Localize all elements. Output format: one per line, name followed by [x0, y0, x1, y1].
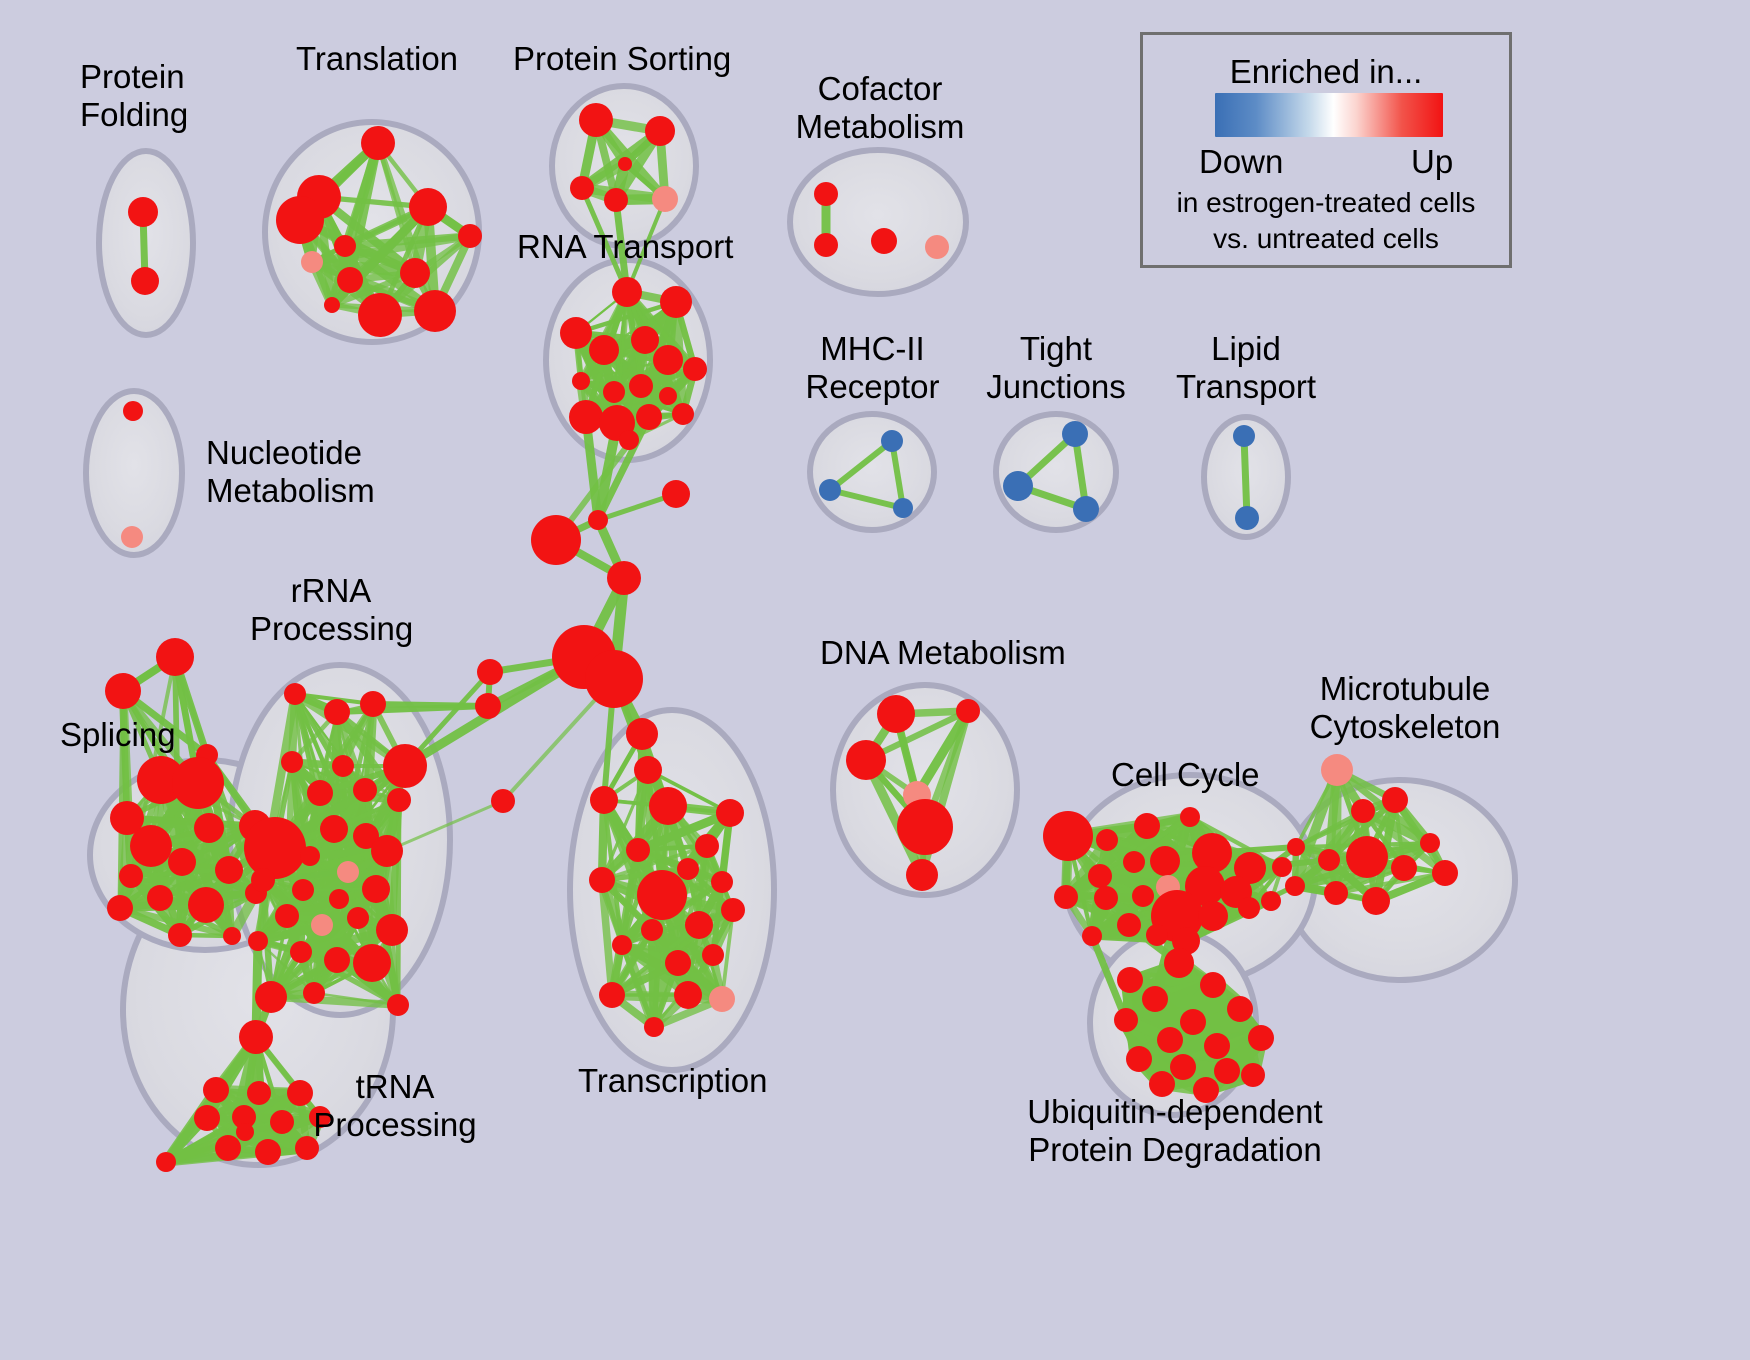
- enrichment-map-figure: Protein Folding Translation Protein Sort…: [0, 0, 1750, 1360]
- gene-set-node: [603, 381, 625, 403]
- gene-set-node: [128, 197, 158, 227]
- gene-set-node: [1164, 948, 1194, 978]
- gene-set-node: [897, 799, 953, 855]
- gene-set-node: [652, 186, 678, 212]
- gene-set-node: [1192, 833, 1232, 873]
- gene-set-node: [119, 864, 143, 888]
- network-edge: [373, 704, 488, 706]
- gene-set-node: [665, 950, 691, 976]
- gene-set-node: [1117, 913, 1141, 937]
- gene-set-node: [1180, 1009, 1206, 1035]
- gene-set-node: [215, 856, 243, 884]
- gene-set-node: [255, 981, 287, 1013]
- gene-set-node: [147, 885, 173, 911]
- gene-set-node: [194, 813, 224, 843]
- gene-set-node: [475, 693, 501, 719]
- gene-set-node: [320, 815, 348, 843]
- cluster-label-ubiquitin-protein-degradation: Ubiquitin-dependent Protein Degradation: [1000, 1093, 1350, 1169]
- network-edge: [398, 800, 399, 1005]
- gene-set-node: [300, 846, 320, 866]
- gene-set-node: [387, 788, 411, 812]
- cluster-label-transcription: Transcription: [578, 1062, 768, 1100]
- gene-set-node: [637, 870, 687, 920]
- gene-set-node: [599, 982, 625, 1008]
- cluster-label-rna-transport: RNA Transport: [517, 228, 733, 266]
- gene-set-node: [1073, 496, 1099, 522]
- gene-set-node: [194, 1105, 220, 1131]
- gene-set-node: [1227, 996, 1253, 1022]
- gene-set-node: [409, 188, 447, 226]
- gene-set-node: [284, 683, 306, 705]
- gene-set-node: [371, 835, 403, 867]
- gene-set-node: [1117, 967, 1143, 993]
- gene-set-node: [1248, 1025, 1274, 1051]
- gene-set-node: [814, 182, 838, 206]
- legend-high-label: Up: [1411, 143, 1453, 181]
- gene-set-node: [1200, 972, 1226, 998]
- gene-set-node: [683, 357, 707, 381]
- gene-set-node: [1132, 885, 1154, 907]
- gene-set-node: [387, 994, 409, 1016]
- gene-set-node: [1170, 1054, 1196, 1080]
- gene-set-node: [105, 673, 141, 709]
- gene-set-node: [1391, 855, 1417, 881]
- gene-set-node: [400, 258, 430, 288]
- gene-set-node: [626, 718, 658, 750]
- gene-set-node: [846, 740, 886, 780]
- gene-set-node: [662, 480, 690, 508]
- gene-set-node: [877, 695, 915, 733]
- gene-set-node: [956, 699, 980, 723]
- gene-set-node: [1241, 1063, 1265, 1087]
- gene-set-node: [660, 286, 692, 318]
- gene-set-node: [247, 1081, 271, 1105]
- gene-set-node: [281, 751, 303, 773]
- gene-set-node: [645, 116, 675, 146]
- cluster-label-cell-cycle: Cell Cycle: [1111, 756, 1260, 794]
- cluster-label-mhc-ii-receptor: MHC-II Receptor: [790, 330, 955, 406]
- gene-set-node: [215, 1135, 241, 1161]
- gene-set-node: [414, 290, 456, 332]
- cluster-label-protein-folding: Protein Folding: [80, 58, 188, 134]
- gene-set-node: [702, 944, 724, 966]
- gene-set-node: [360, 691, 386, 717]
- gene-set-node: [588, 510, 608, 530]
- gene-set-node: [491, 789, 515, 813]
- gene-set-node: [585, 650, 643, 708]
- gene-set-node: [1096, 829, 1118, 851]
- gene-set-node: [311, 914, 333, 936]
- gene-set-node: [353, 778, 377, 802]
- gene-set-node: [819, 479, 841, 501]
- gene-set-node: [590, 786, 618, 814]
- gene-set-node: [641, 919, 663, 941]
- gene-set-node: [353, 944, 391, 982]
- gene-set-node: [255, 1139, 281, 1165]
- gene-set-node: [570, 176, 594, 200]
- gene-set-node: [1233, 425, 1255, 447]
- gene-set-node: [560, 317, 592, 349]
- gene-set-node: [649, 787, 687, 825]
- gene-set-node: [636, 404, 662, 430]
- cluster-label-rrna-processing: rRNA Processing: [250, 572, 412, 648]
- gene-set-node: [607, 561, 641, 595]
- gene-set-node: [1150, 846, 1180, 876]
- gene-set-node: [604, 188, 628, 212]
- gene-set-node: [324, 297, 340, 313]
- gene-set-node: [156, 1152, 176, 1172]
- gene-set-node: [107, 895, 133, 921]
- gene-set-node: [1214, 1058, 1240, 1084]
- gene-set-node: [1272, 857, 1292, 877]
- gene-set-node: [324, 699, 350, 725]
- gene-set-node: [301, 251, 323, 273]
- gene-set-node: [248, 931, 268, 951]
- gene-set-node: [626, 838, 650, 862]
- gene-set-node: [358, 293, 402, 337]
- gene-set-node: [893, 498, 913, 518]
- gene-set-node: [172, 757, 224, 809]
- gene-set-node: [332, 755, 354, 777]
- gene-set-node: [188, 887, 224, 923]
- gene-set-node: [347, 907, 369, 929]
- gene-set-node: [629, 374, 653, 398]
- gene-set-node: [168, 923, 192, 947]
- gene-set-node: [1003, 471, 1033, 501]
- gene-set-node: [612, 935, 632, 955]
- gene-set-node: [239, 1020, 273, 1054]
- cluster-label-translation: Translation: [296, 40, 458, 78]
- gene-set-node: [1054, 885, 1078, 909]
- gene-set-node: [619, 430, 639, 450]
- gene-set-node: [1088, 864, 1112, 888]
- gene-set-node: [677, 858, 699, 880]
- gene-set-node: [334, 235, 356, 257]
- gene-set-node: [324, 947, 350, 973]
- cluster-label-lipid-transport: Lipid Transport: [1160, 330, 1332, 406]
- cluster-label-nucleotide-metabolism: Nucleotide Metabolism: [206, 434, 375, 510]
- gene-set-node: [871, 228, 897, 254]
- gene-set-node: [329, 889, 349, 909]
- gene-set-node: [290, 941, 312, 963]
- gene-set-node: [925, 235, 949, 259]
- gene-set-node: [579, 103, 613, 137]
- gene-set-node: [270, 1110, 294, 1134]
- cluster-label-tight-junctions: Tight Junctions: [975, 330, 1137, 406]
- gene-set-node: [123, 401, 143, 421]
- gene-set-node: [1432, 860, 1458, 886]
- gene-set-node: [531, 515, 581, 565]
- gene-set-node: [477, 659, 503, 685]
- gene-set-node: [244, 817, 306, 879]
- gene-set-node: [303, 982, 325, 1004]
- gene-set-node: [1420, 833, 1440, 853]
- network-edge: [1244, 436, 1247, 518]
- gene-set-node: [383, 744, 427, 788]
- gene-set-node: [203, 1077, 229, 1103]
- gene-set-node: [1204, 1033, 1230, 1059]
- gene-set-node: [1287, 838, 1305, 856]
- gene-set-node: [589, 867, 615, 893]
- cluster-label-dna-metabolism: DNA Metabolism: [820, 634, 1066, 672]
- gene-set-node: [131, 267, 159, 295]
- gene-set-node: [337, 861, 359, 883]
- gene-set-node: [589, 335, 619, 365]
- legend-subtitle: in estrogen-treated cells vs. untreated …: [1143, 185, 1509, 257]
- gene-set-node: [1235, 506, 1259, 530]
- gene-set-node: [236, 1123, 254, 1141]
- gene-set-node: [618, 157, 632, 171]
- gene-set-node: [1382, 787, 1408, 813]
- gene-set-node: [1321, 754, 1353, 786]
- gene-set-node: [1324, 881, 1348, 905]
- cluster-label-trna-processing: tRNA Processing: [300, 1068, 490, 1144]
- gene-set-node: [1082, 926, 1102, 946]
- gene-set-node: [1346, 836, 1388, 878]
- legend-title: Enriched in...: [1143, 53, 1509, 91]
- gene-set-node: [634, 756, 662, 784]
- cluster-label-microtubule-cytoskeleton: Microtubule Cytoskeleton: [1290, 670, 1520, 746]
- gene-set-node: [376, 914, 408, 946]
- gene-set-node: [251, 868, 275, 892]
- cluster-label-cofactor-metabolism: Cofactor Metabolism: [790, 70, 970, 146]
- gene-set-node: [695, 834, 719, 858]
- gene-set-node: [1180, 807, 1200, 827]
- gene-set-node: [572, 372, 590, 390]
- gene-set-node: [709, 986, 735, 1012]
- gene-set-node: [337, 267, 363, 293]
- cluster-hull-mhc-ii-receptor: [810, 414, 934, 530]
- gene-set-node: [292, 879, 314, 901]
- legend-box: Enriched in... Down Up in estrogen-treat…: [1140, 32, 1512, 268]
- gene-set-node: [1142, 986, 1168, 1012]
- gene-set-node: [716, 799, 744, 827]
- gene-set-node: [1198, 901, 1228, 931]
- gene-set-node: [362, 875, 390, 903]
- legend-color-gradient: [1215, 93, 1443, 137]
- cluster-hull-cofactor-metabolism: [790, 150, 966, 294]
- gene-set-node: [672, 403, 694, 425]
- gene-set-node: [1043, 811, 1093, 861]
- gene-set-node: [685, 911, 713, 939]
- gene-set-node: [1146, 924, 1168, 946]
- cluster-label-protein-sorting: Protein Sorting: [513, 40, 731, 78]
- gene-set-node: [458, 224, 482, 248]
- gene-set-node: [168, 848, 196, 876]
- gene-set-node: [1094, 886, 1118, 910]
- cluster-label-splicing: Splicing: [60, 716, 176, 754]
- gene-set-node: [612, 277, 642, 307]
- legend-low-label: Down: [1199, 143, 1283, 181]
- gene-set-node: [156, 638, 194, 676]
- gene-set-node: [1261, 891, 1281, 911]
- gene-set-node: [1157, 1027, 1183, 1053]
- gene-set-node: [361, 126, 395, 160]
- gene-set-node: [659, 387, 677, 405]
- gene-set-node: [631, 326, 659, 354]
- gene-set-node: [307, 780, 333, 806]
- gene-set-node: [814, 233, 838, 257]
- gene-set-node: [711, 871, 733, 893]
- gene-set-node: [1362, 887, 1390, 915]
- gene-set-node: [569, 400, 603, 434]
- gene-set-node: [1351, 799, 1375, 823]
- gene-set-node: [1114, 1008, 1138, 1032]
- gene-set-node: [644, 1017, 664, 1037]
- gene-set-node: [275, 904, 299, 928]
- gene-set-node: [1123, 851, 1145, 873]
- gene-set-node: [674, 981, 702, 1009]
- gene-set-node: [721, 898, 745, 922]
- gene-set-node: [1062, 421, 1088, 447]
- gene-set-node: [223, 927, 241, 945]
- gene-set-node: [1318, 849, 1340, 871]
- gene-set-node: [1285, 876, 1305, 896]
- gene-set-node: [906, 859, 938, 891]
- gene-set-node: [1238, 897, 1260, 919]
- gene-set-node: [1126, 1046, 1152, 1072]
- gene-set-node: [1134, 813, 1160, 839]
- gene-set-node: [276, 196, 324, 244]
- gene-set-node: [653, 345, 683, 375]
- gene-set-node: [121, 526, 143, 548]
- gene-set-node: [881, 430, 903, 452]
- gene-set-node: [130, 825, 172, 867]
